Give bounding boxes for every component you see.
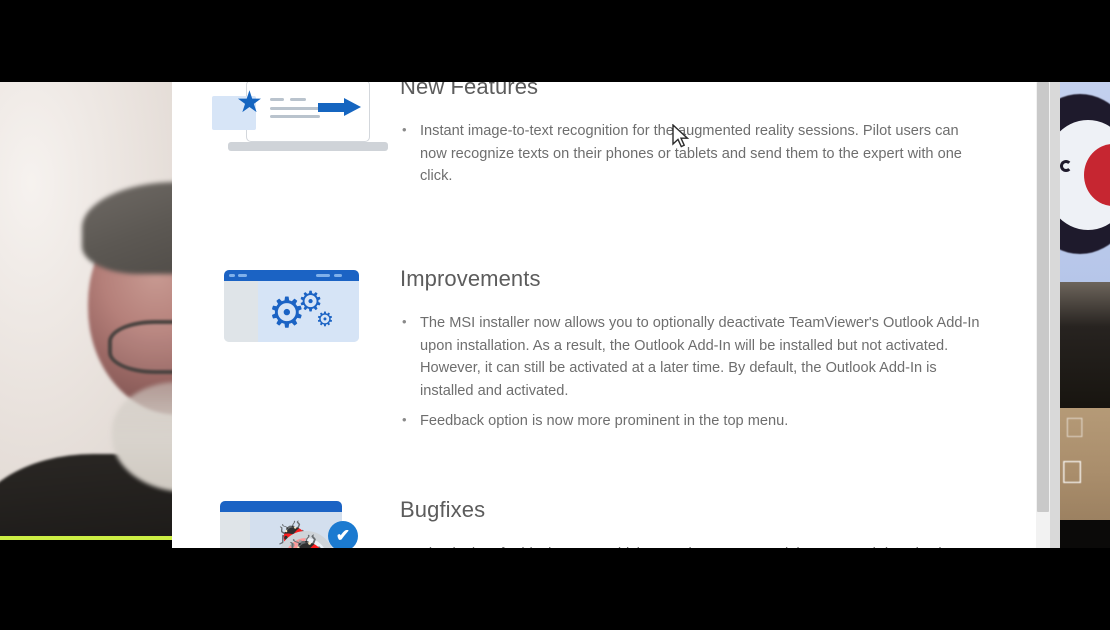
list-item: Feedback option is now more prominent in… — [400, 410, 988, 433]
section-heading-bugfixes: Bugfixes — [400, 497, 988, 523]
gear-icon: ⚙ — [316, 310, 334, 330]
vertical-scrollbar-thumb[interactable] — [1037, 82, 1049, 512]
document-scroll-content: New Features Instant image-to-text recog… — [172, 82, 1050, 548]
apple-logo-icon:  — [1064, 414, 1085, 442]
section-improvements: ⚙ ⚙ ⚙ Improvements The MSI installer now… — [172, 208, 1050, 441]
browser-titlebar-shape — [224, 270, 359, 281]
bugfixes-content: Bugfixes Fixed a bug for black screen wh… — [400, 497, 1050, 548]
laptop-star-arrow-icon — [194, 82, 384, 172]
section-heading-new-features: New Features — [400, 82, 988, 100]
section-new-features: New Features Instant image-to-text recog… — [172, 82, 1050, 208]
browser-titlebar-shape — [220, 501, 342, 512]
improvements-bullet-list: The MSI installer now allows you to opti… — [400, 312, 988, 433]
laptop-base-shape — [228, 142, 388, 151]
check-circle-icon: ✔ — [328, 521, 358, 548]
section-bugfixes: 🐞 🐞 ✔ Bugfixes Fixed a bug for black scr… — [172, 441, 1050, 548]
active-speaker-highlight — [0, 536, 172, 540]
bug-icon: 🐞 — [284, 537, 331, 548]
copyright-mark-icon — [1060, 160, 1072, 172]
text-line-shape — [270, 98, 284, 101]
apple-logo-icon:  — [1060, 456, 1084, 488]
shared-screen-document[interactable]: New Features Instant image-to-text recog… — [172, 82, 1050, 548]
browser-gears-icon: ⚙ ⚙ ⚙ — [224, 270, 359, 342]
letterbox-bottom — [0, 548, 1110, 630]
list-item: The MSI installer now allows you to opti… — [400, 312, 988, 402]
arrow-right-icon — [318, 98, 362, 114]
new-features-bullet-list: Instant image-to-text recognition for th… — [400, 120, 988, 188]
letterbox-top — [0, 0, 1110, 82]
vertical-scrollbar-track[interactable] — [1036, 82, 1050, 548]
presenter-webcam-tile[interactable] — [0, 82, 172, 540]
browser-bug-magnifier-check-icon: 🐞 🐞 ✔ — [220, 501, 370, 548]
webcam-person-glasses — [108, 320, 172, 374]
improvements-content: Improvements The MSI installer now allow… — [400, 266, 1050, 441]
text-line-shape — [290, 98, 306, 101]
participant-webcam-tile[interactable]:   — [1050, 82, 1110, 548]
text-line-shape — [270, 115, 320, 118]
webcam-tile-gutter — [1050, 82, 1060, 548]
screen-root:   — [0, 0, 1110, 630]
section-heading-improvements: Improvements — [400, 266, 988, 292]
text-line-shape — [270, 107, 320, 110]
mouse-pointer-icon — [671, 124, 691, 150]
list-item: Instant image-to-text recognition for th… — [400, 120, 988, 188]
new-features-content: New Features Instant image-to-text recog… — [400, 82, 1050, 196]
